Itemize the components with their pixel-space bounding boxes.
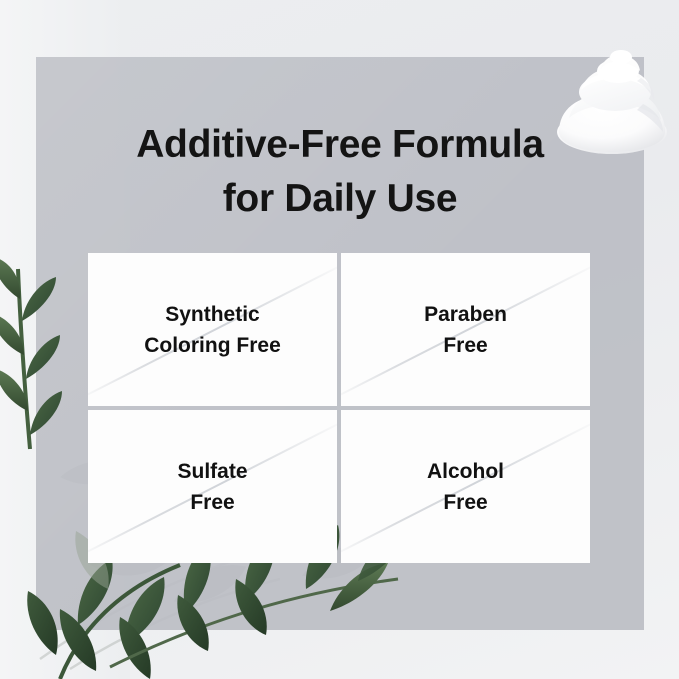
card-label: Alcohol Free xyxy=(427,456,504,518)
claims-grid: Synthetic Coloring Free Paraben Free Sul… xyxy=(88,253,590,563)
page-title-line-1: Additive-Free Formula xyxy=(36,118,644,172)
card-label: Synthetic Coloring Free xyxy=(144,299,281,361)
card-alcohol-free: Alcohol Free xyxy=(341,410,590,563)
card-synthetic-coloring-free: Synthetic Coloring Free xyxy=(88,253,337,406)
card-label: Sulfate Free xyxy=(177,456,247,518)
card-sulfate-free: Sulfate Free xyxy=(88,410,337,563)
promo-graphic: Additive-Free Formula for Daily Use Synt… xyxy=(0,0,679,679)
page-title: Additive-Free Formula for Daily Use xyxy=(36,118,644,226)
card-label: Paraben Free xyxy=(424,299,507,361)
card-paraben-free: Paraben Free xyxy=(341,253,590,406)
page-title-line-2: for Daily Use xyxy=(36,172,644,226)
